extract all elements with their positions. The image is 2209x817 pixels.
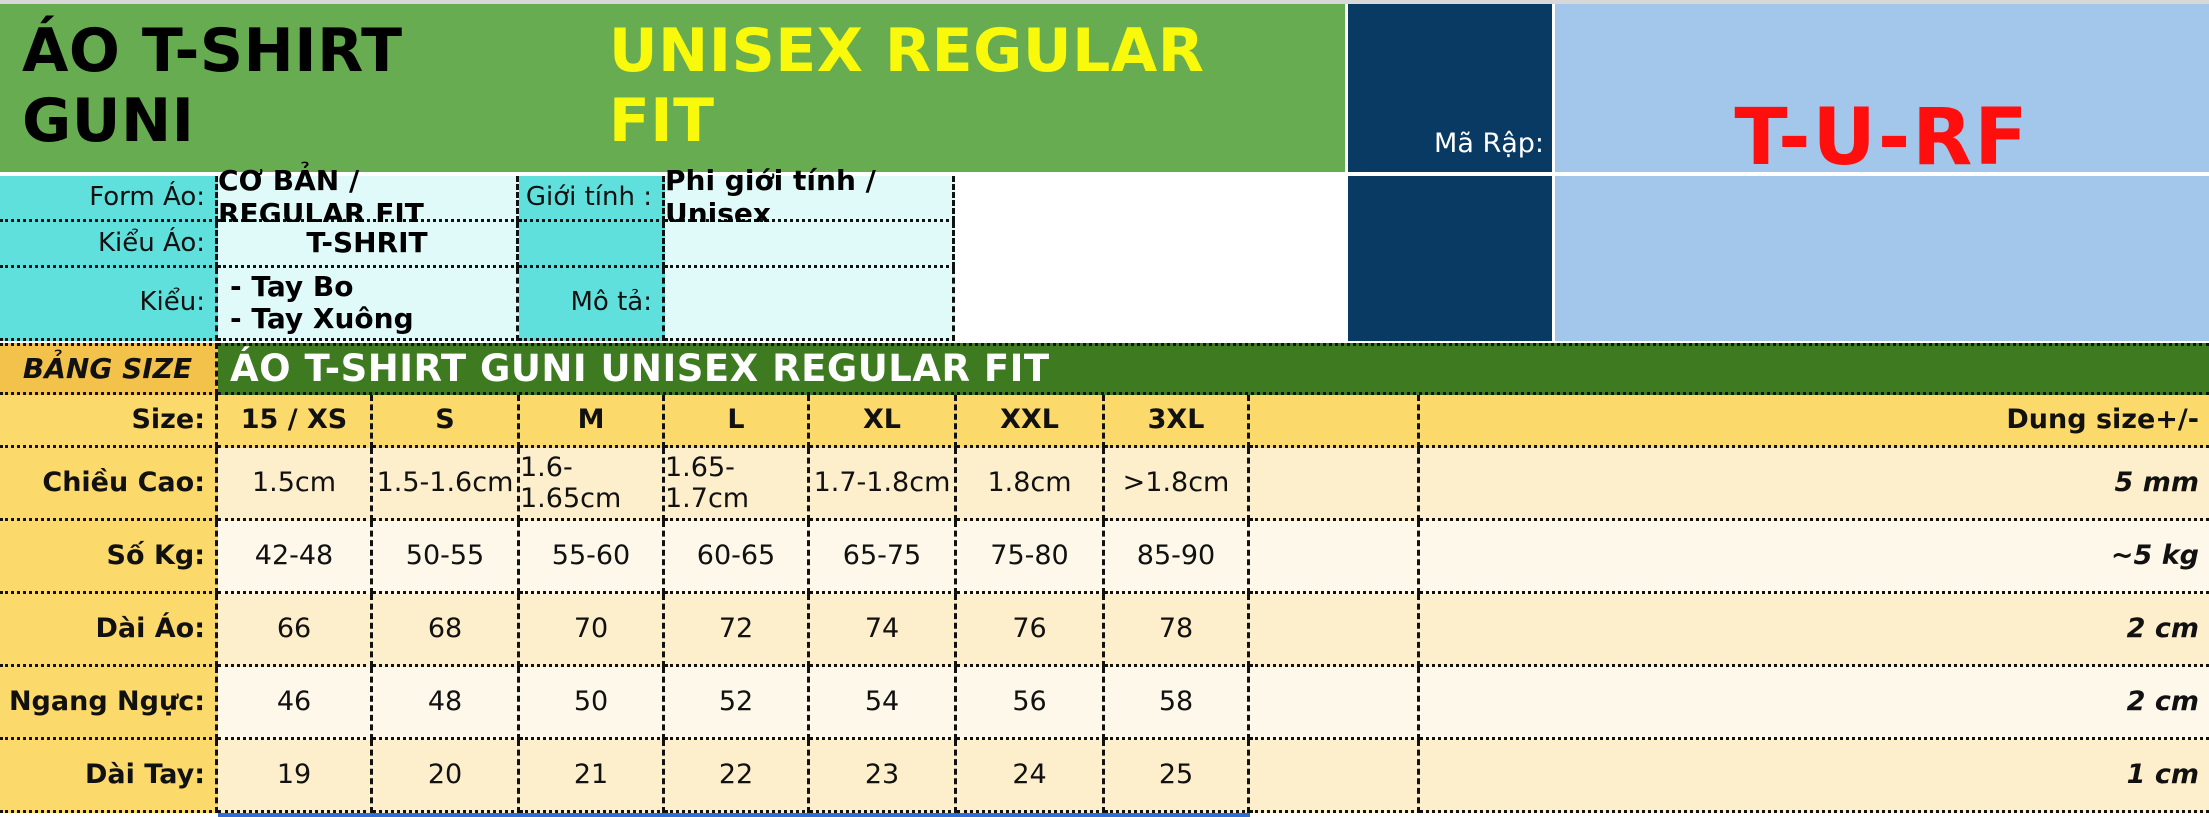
cell-r4-c0: 19 xyxy=(218,740,373,813)
cell-r1-c2: 55-60 xyxy=(520,521,665,594)
tolerance-r0: 5 mm xyxy=(1420,448,2209,521)
size-header-0: 15 / XS xyxy=(218,395,373,448)
cell-r3-c4: 54 xyxy=(810,667,957,740)
size-header-7-empty xyxy=(1250,395,1420,448)
cell-r1-c0: 42-48 xyxy=(218,521,373,594)
mota-value xyxy=(665,268,955,341)
info-navy-extension xyxy=(1348,176,1552,341)
size-header-1: S xyxy=(373,395,520,448)
cell-r4-c6: 25 xyxy=(1105,740,1250,813)
row-label-2: Dài Áo: xyxy=(0,594,218,667)
cell-r3-c5: 56 xyxy=(957,667,1105,740)
gender-value-spacer xyxy=(665,222,955,268)
cell-r4-c3: 22 xyxy=(665,740,810,813)
cell-r3-c0: 46 xyxy=(218,667,373,740)
cell-r3-c6: 58 xyxy=(1105,667,1250,740)
banner-title-yellow: UNISEX REGULAR FIT xyxy=(609,16,1322,156)
cell-r0-c6: >1.8cm xyxy=(1105,448,1250,521)
size-table-green-band: ÁO T-SHIRT GUNI UNISEX REGULAR FIT xyxy=(218,343,2209,395)
cell-r2-c3: 72 xyxy=(665,594,810,667)
cell-r0-c7 xyxy=(1250,448,1420,521)
kieu-label: Kiểu: xyxy=(0,268,218,341)
cell-r4-c5: 24 xyxy=(957,740,1105,813)
cell-r1-c7 xyxy=(1250,521,1420,594)
cell-r1-c1: 50-55 xyxy=(373,521,520,594)
cell-r4-c1: 20 xyxy=(373,740,520,813)
tolerance-r1: ~5 kg xyxy=(1420,521,2209,594)
cell-r2-c7 xyxy=(1250,594,1420,667)
cell-r1-c6: 85-90 xyxy=(1105,521,1250,594)
row-label-3: Ngang Ngực: xyxy=(0,667,218,740)
size-row-label: Size: xyxy=(0,395,218,448)
gender-value: Phi giới tính / Unisex xyxy=(665,176,955,222)
info-blue-extension xyxy=(1555,176,2209,341)
cell-r1-c4: 65-75 xyxy=(810,521,957,594)
cell-r3-c1: 48 xyxy=(373,667,520,740)
kieu-ao-value: T-SHRIT xyxy=(218,222,519,268)
size-header-2: M xyxy=(520,395,665,448)
kieu-ao-label: Kiểu Áo: xyxy=(0,222,218,268)
size-header-3: L xyxy=(665,395,810,448)
cell-r0-c5: 1.8cm xyxy=(957,448,1105,521)
cell-r1-c3: 60-65 xyxy=(665,521,810,594)
cell-r0-c1: 1.5-1.6cm xyxy=(373,448,520,521)
cell-r2-c5: 76 xyxy=(957,594,1105,667)
size-table-band-title: ÁO T-SHIRT GUNI UNISEX REGULAR FIT xyxy=(230,348,1050,391)
cell-r1-c5: 75-80 xyxy=(957,521,1105,594)
bangsize-text: BẢNG SIZE xyxy=(23,353,192,385)
cell-r2-c6: 78 xyxy=(1105,594,1250,667)
tolerance-r2: 2 cm xyxy=(1420,594,2209,667)
selection-underline xyxy=(218,813,1250,817)
size-header-5: XXL xyxy=(957,395,1105,448)
size-header-4: XL xyxy=(810,395,957,448)
cell-r2-c0: 66 xyxy=(218,594,373,667)
cell-r0-c4: 1.7-1.8cm xyxy=(810,448,957,521)
info-right-filler xyxy=(955,176,1348,341)
row-label-1: Số Kg: xyxy=(0,521,218,594)
gender-label: Giới tính : xyxy=(519,176,665,222)
row-label-0: Chiều Cao: xyxy=(0,448,218,521)
cell-r4-c2: 21 xyxy=(520,740,665,813)
tolerance-header: Dung size+/- xyxy=(1420,395,2209,448)
cell-r2-c4: 74 xyxy=(810,594,957,667)
mota-label: Mô tả: xyxy=(519,268,665,341)
size-chart-sheet: ÁO T-SHIRT GUNI UNISEX REGULAR FIT Mã Rậ… xyxy=(0,0,2209,817)
cell-r2-c1: 68 xyxy=(373,594,520,667)
bangsize-corner-label: BẢNG SIZE xyxy=(0,343,218,395)
cell-r4-c4: 23 xyxy=(810,740,957,813)
banner-title: ÁO T-SHIRT GUNI UNISEX REGULAR FIT xyxy=(22,36,1322,136)
cell-r0-c2: 1.6-1.65cm xyxy=(520,448,665,521)
gender-spacer xyxy=(519,222,665,268)
form-ao-value: CƠ BẢN / REGULAR FIT xyxy=(218,176,519,222)
cell-r4-c7 xyxy=(1250,740,1420,813)
cell-r3-c7 xyxy=(1250,667,1420,740)
size-header-6: 3XL xyxy=(1105,395,1250,448)
cell-r2-c2: 70 xyxy=(520,594,665,667)
kieu-value: - Tay Bo - Tay Xuông xyxy=(218,268,519,341)
pattern-code-label: Mã Rập: xyxy=(1348,125,1544,161)
form-ao-label: Form Áo: xyxy=(0,176,218,222)
banner-title-black: ÁO T-SHIRT GUNI xyxy=(22,16,589,156)
cell-r0-c0: 1.5cm xyxy=(218,448,373,521)
cell-r3-c3: 52 xyxy=(665,667,810,740)
cell-r0-c3: 1.65-1.7cm xyxy=(665,448,810,521)
pattern-code-value: T-U-RF xyxy=(1555,88,2209,188)
row-label-4: Dài Tay: xyxy=(0,740,218,813)
tolerance-r3: 2 cm xyxy=(1420,667,2209,740)
cell-r3-c2: 50 xyxy=(520,667,665,740)
tolerance-r4: 1 cm xyxy=(1420,740,2209,813)
